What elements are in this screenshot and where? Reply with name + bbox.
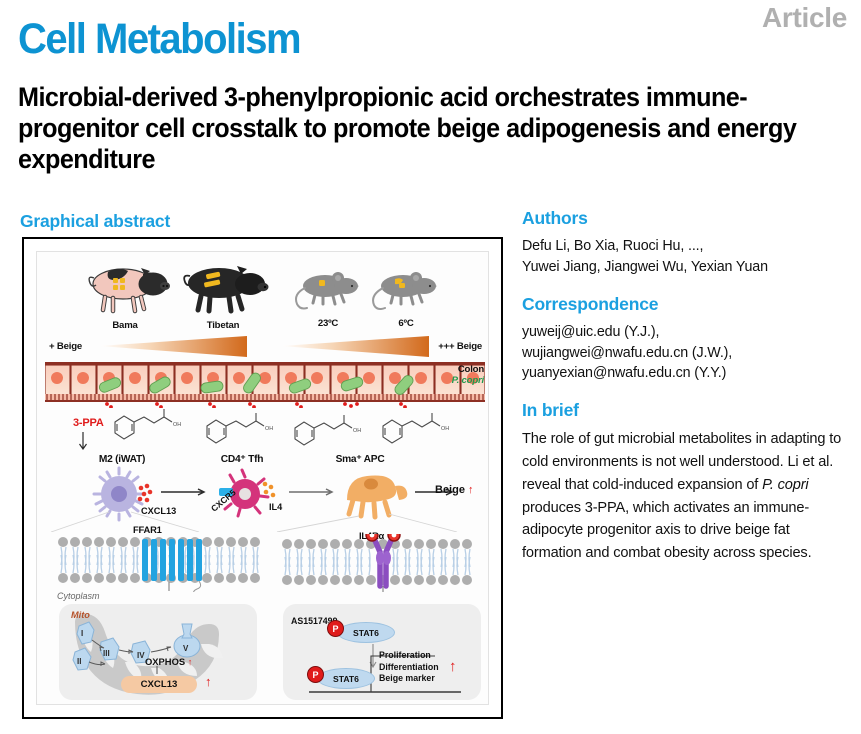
in-brief-part-2: produces 3-PPA, which activates an immun… <box>522 500 811 562</box>
stat6-outcome-list: Proliferation Differentiation Beige mark… <box>379 650 439 685</box>
bacteria-species-label: P. copri <box>452 375 484 386</box>
animal-caption: 23ºC <box>289 318 367 329</box>
animal-mouse-23c: 23ºC <box>289 266 367 329</box>
svg-text:OH: OH <box>441 426 449 432</box>
up-arrow-icon: ↑ <box>468 484 474 496</box>
lipid-bilayer-ffar1-icon <box>57 534 267 592</box>
mouse-6c-icon <box>367 266 445 312</box>
animal-row: Bama <box>37 260 488 332</box>
pig-bama-icon <box>75 260 175 314</box>
correspondence-heading: Correspondence <box>522 294 852 315</box>
beige-scale-left-label: + Beige <box>49 341 82 352</box>
authors-line-2: Yuwei Jiang, Jiangwei Wu, Yexian Yuan <box>522 257 852 278</box>
phenylpropionic-acid-structure-icon: OH OH <box>37 404 477 450</box>
mito-label: Mito <box>71 610 90 620</box>
article-type-tag: Article <box>762 2 847 34</box>
in-brief-heading: In brief <box>522 400 852 421</box>
animal-caption: 6ºC <box>367 318 445 329</box>
beige-scale-right-label: +++ Beige <box>438 341 482 352</box>
m2-macrophage-icon <box>94 468 144 520</box>
colon-epithelium <box>45 360 485 408</box>
membrane-panel-right <box>281 534 481 592</box>
authors-line-1: Defu Li, Bo Xia, Ruoci Hu, ..., <box>522 236 852 257</box>
colon-label: Colon <box>458 364 484 375</box>
animal-tibetan: Tibetan <box>173 260 273 331</box>
graphical-abstract-canvas: Bama <box>36 251 489 705</box>
mouse-23c-icon <box>289 266 367 312</box>
stat6-protein-bottom: STAT6 <box>317 668 375 689</box>
authors-list: Defu Li, Bo Xia, Ruoci Hu, ..., Yuwei Ji… <box>522 236 852 278</box>
svg-text:II: II <box>77 657 81 666</box>
correspondence-email-1[interactable]: yuweij@uic.edu (Y.J.), <box>522 322 852 343</box>
authors-heading: Authors <box>522 208 852 229</box>
outcome-item: Differentiation <box>379 662 439 674</box>
sma-apc-cell-icon <box>347 475 407 517</box>
stat6-panel: AS1517499 STAT6 P STAT6 P Proliferation <box>283 604 481 700</box>
oxphos-label: OXPHOS ↑ <box>145 656 192 667</box>
cell-diagram-icon <box>37 454 477 532</box>
ffar1-receptor-icon <box>142 539 202 581</box>
phospho-badge-icon: P <box>327 620 344 637</box>
in-brief-text: The role of gut microbial metabolites in… <box>522 428 852 565</box>
outcome-item: Beige marker <box>379 673 439 685</box>
graphical-abstract-heading: Graphical abstract <box>20 211 170 232</box>
up-arrow-icon: ↑ <box>188 656 193 667</box>
journal-title: Cell Metabolism <box>18 18 300 61</box>
il4-label: IL4 <box>269 502 282 512</box>
il4-particles-icon <box>263 482 276 498</box>
correspondence-email-2[interactable]: wujiangwei@nwafu.edu.cn (J.W.), <box>522 343 852 364</box>
svg-text:IV: IV <box>137 651 145 660</box>
svg-text:III: III <box>103 649 110 658</box>
article-cover-page: Article Cell Metabolism Microbial-derive… <box>0 0 861 734</box>
cytoplasm-label: Cytoplasm <box>57 591 100 601</box>
correspondence-list: yuweij@uic.edu (Y.J.), wujiangwei@nwafu.… <box>522 322 852 385</box>
beige-wedge-mice <box>281 336 429 357</box>
animal-mouse-6c: 6ºC <box>367 266 445 329</box>
animal-caption: Bama <box>75 320 175 331</box>
in-brief-species-name: P. copri <box>762 477 808 493</box>
authors-block: Authors Defu Li, Bo Xia, Ruoci Hu, ..., … <box>522 208 852 278</box>
svg-text:OH: OH <box>265 426 273 432</box>
animal-bama: Bama <box>75 260 175 331</box>
correspondence-email-3[interactable]: yuanyexian@nwafu.edu.cn (Y.Y.) <box>522 363 852 384</box>
svg-text:OH: OH <box>173 422 181 428</box>
lipid-bilayer-il4ra-icon <box>281 534 481 592</box>
cxcl13-target-pill: CXCL13 <box>121 676 197 693</box>
beige-gradient-row: + Beige +++ Beige <box>37 336 488 358</box>
outcome-item: Proliferation <box>379 650 439 662</box>
animal-caption: Tibetan <box>173 320 273 331</box>
mitochondria-panel: I II III IV V Mit <box>59 604 257 700</box>
beige-outcome-label: Beige ↑ <box>435 484 474 496</box>
metadata-column: Authors Defu Li, Bo Xia, Ruoci Hu, ..., … <box>522 208 852 581</box>
cxcl13-label: CXCL13 <box>141 506 176 516</box>
beige-wedge-pigs <box>99 336 247 357</box>
cell-cascade-row: M2 (iWAT) CD4⁺ Tfh Sma⁺ APC <box>37 454 488 532</box>
svg-text:I: I <box>81 629 83 638</box>
correspondence-block: Correspondence yuweij@uic.edu (Y.J.), wu… <box>522 294 852 385</box>
pig-tibetan-icon <box>173 260 273 314</box>
up-arrow-icon: ↑ <box>449 658 457 675</box>
molecule-row: OH OH <box>37 404 488 450</box>
svg-text:V: V <box>183 644 189 653</box>
stat6-protein-top: STAT6 <box>337 622 395 643</box>
up-arrow-icon: ↑ <box>205 674 212 689</box>
membrane-panel-left <box>57 534 267 592</box>
in-brief-block: In brief The role of gut microbial metab… <box>522 400 852 565</box>
svg-text:OH: OH <box>353 428 361 434</box>
phospho-badge-icon: P <box>307 666 324 683</box>
graphical-abstract-figure: Bama <box>22 237 503 719</box>
epithelial-cell-layer-icon <box>45 360 485 408</box>
page-title: Microbial-derived 3-phenylpropionic acid… <box>18 82 808 175</box>
